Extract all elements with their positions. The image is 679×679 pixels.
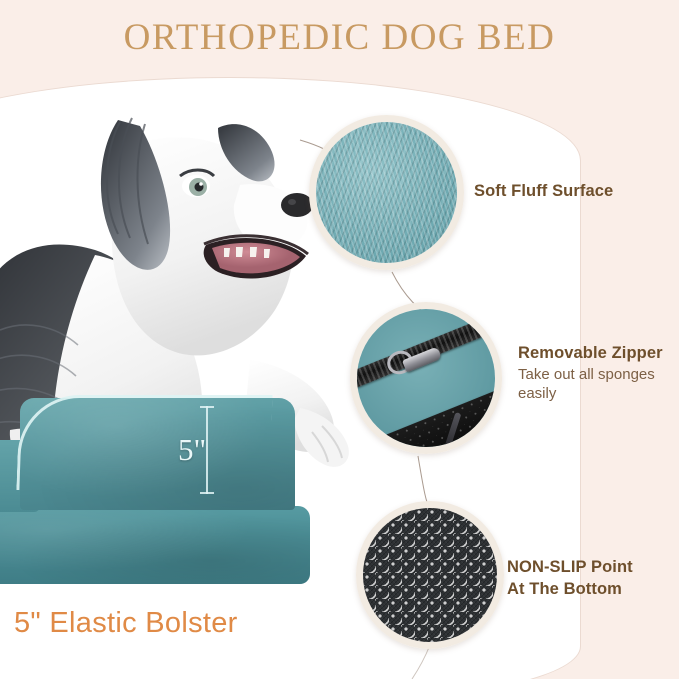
zipper-texture <box>357 309 495 447</box>
feature-swatch-removable-zipper <box>350 302 502 454</box>
feature-heading: Removable Zipper <box>518 344 679 363</box>
feature-label-removable-zipper: Removable Zipper Take out all sponges ea… <box>518 344 679 403</box>
feature-subtext: Take out all sponges easily <box>518 365 679 403</box>
zipper-track-lower <box>350 374 502 454</box>
feature-heading-line2: At The Bottom <box>507 578 633 600</box>
bed-base-cushion <box>0 506 310 584</box>
feature-swatch-soft-fluff-surface <box>309 115 464 270</box>
bolster-dimension-line <box>206 406 208 494</box>
feature-heading: Soft Fluff Surface <box>474 182 613 201</box>
feature-heading: NON-SLIP Point <box>507 556 633 578</box>
elastic-bolster-caption: 5" Elastic Bolster <box>14 607 238 640</box>
product-infographic: ORTHOPEDIC DOG BED <box>0 0 679 679</box>
page-title: ORTHOPEDIC DOG BED <box>0 16 679 59</box>
fluff-texture <box>316 122 457 263</box>
nonslip-dot-texture <box>363 508 497 642</box>
feature-label-soft-fluff-surface: Soft Fluff Surface <box>474 182 613 201</box>
feature-label-non-slip-point: NON-SLIP Point At The Bottom <box>507 556 633 601</box>
bed-piping-trim <box>16 395 272 490</box>
bolster-height-label: 5" <box>178 432 206 468</box>
feature-swatch-non-slip-point <box>356 501 504 649</box>
